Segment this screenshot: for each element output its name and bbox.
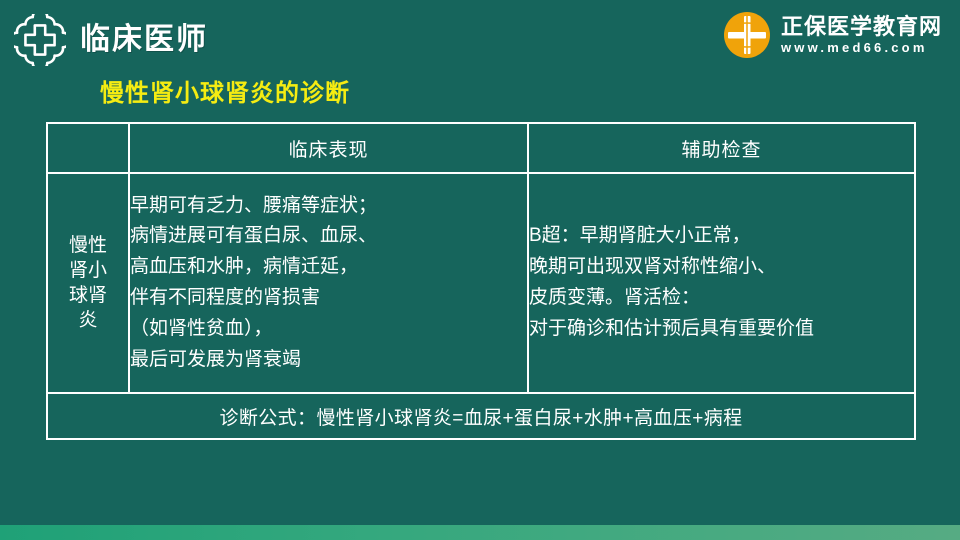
page-title: 慢性肾小球肾炎的诊断 bbox=[100, 80, 350, 109]
exam-line: 皮质变薄。肾活检： bbox=[529, 283, 914, 314]
clinical-line: 早期可有乏力、腰痛等症状； bbox=[130, 191, 527, 222]
diagnosis-table: 临床表现 辅助检查 慢性 肾小 球肾 炎 早期可有乏力、腰痛等症状； 病情进展可… bbox=[46, 122, 916, 440]
orange-circle-cross-icon bbox=[722, 10, 772, 60]
clinical-line: 高血压和水肿，病情迁延， bbox=[130, 252, 527, 283]
medical-cross-quatrefoil-icon bbox=[14, 14, 66, 66]
table-formula-row: 诊断公式：慢性肾小球肾炎=血尿+蛋白尿+水肿+高血压+病程 bbox=[47, 393, 915, 439]
header-clinical: 临床表现 bbox=[129, 123, 528, 173]
row-label-line: 慢性 bbox=[48, 233, 128, 258]
brand-left: 临床医师 bbox=[14, 14, 208, 66]
cell-clinical-manifestations: 早期可有乏力、腰痛等症状； 病情进展可有蛋白尿、血尿、 高血压和水肿，病情迁延，… bbox=[129, 173, 528, 393]
clinical-line: （如肾性贫血）， bbox=[130, 314, 527, 345]
header-blank bbox=[47, 123, 129, 173]
bottom-accent-bar bbox=[0, 525, 960, 540]
row-label-line: 球肾 bbox=[48, 283, 128, 308]
slide: 临床医师 正保医学教育网 www.med66.com 慢性肾小球肾炎的诊断 bbox=[0, 0, 960, 540]
brand-right-text: 正保医学教育网 www.med66.com bbox=[781, 16, 942, 54]
row-label-chronic-glomerulonephritis: 慢性 肾小 球肾 炎 bbox=[47, 173, 129, 393]
header-exam: 辅助检查 bbox=[528, 123, 915, 173]
exam-line: 对于确诊和估计预后具有重要价值 bbox=[529, 314, 914, 345]
row-label-line: 炎 bbox=[48, 308, 128, 333]
clinical-line: 伴有不同程度的肾损害 bbox=[130, 283, 527, 314]
diagnosis-formula: 诊断公式：慢性肾小球肾炎=血尿+蛋白尿+水肿+高血压+病程 bbox=[47, 393, 915, 439]
brand-right: 正保医学教育网 www.med66.com bbox=[722, 10, 942, 60]
clinical-line: 最后可发展为肾衰竭 bbox=[130, 345, 527, 376]
row-label-line: 肾小 bbox=[48, 258, 128, 283]
exam-line: B超：早期肾脏大小正常， bbox=[529, 221, 914, 252]
brand-left-label: 临床医师 bbox=[80, 25, 208, 55]
cell-auxiliary-examination: B超：早期肾脏大小正常， 晚期可出现双肾对称性缩小、 皮质变薄。肾活检： 对于确… bbox=[528, 173, 915, 393]
clinical-line: 病情进展可有蛋白尿、血尿、 bbox=[130, 221, 527, 252]
table-header-row: 临床表现 辅助检查 bbox=[47, 123, 915, 173]
table-row: 慢性 肾小 球肾 炎 早期可有乏力、腰痛等症状； 病情进展可有蛋白尿、血尿、 高… bbox=[47, 173, 915, 393]
exam-line: 晚期可出现双肾对称性缩小、 bbox=[529, 252, 914, 283]
brand-right-name: 正保医学教育网 bbox=[781, 16, 942, 38]
brand-right-url: www.med66.com bbox=[781, 41, 942, 54]
